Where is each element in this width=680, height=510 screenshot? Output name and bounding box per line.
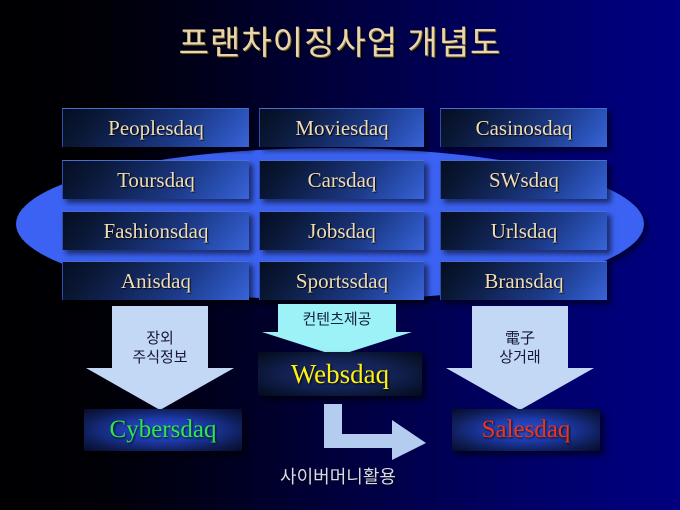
bottom-caption: 사이버머니활용 bbox=[218, 463, 458, 489]
elbow-arrow-icon bbox=[318, 404, 428, 460]
grid-cell-moviesdaq[interactable]: Moviesdaq bbox=[259, 108, 424, 147]
node-cybersdaq[interactable]: Cybersdaq bbox=[84, 409, 242, 451]
node-salesdaq[interactable]: Salesdaq bbox=[452, 409, 600, 451]
grid-cell-jobsdaq[interactable]: Jobsdaq bbox=[259, 211, 424, 250]
grid-cell-label: Peoplesdaq bbox=[108, 118, 204, 139]
grid-cell-label: Bransdaq bbox=[484, 271, 563, 292]
grid-cell-urlsdaq[interactable]: Urlsdaq bbox=[440, 211, 607, 250]
node-cybersdaq-label: Cybersdaq bbox=[110, 416, 217, 444]
node-websdaq-label: Websdaq bbox=[291, 359, 389, 390]
arrow-left[interactable]: 장외 주식정보 bbox=[86, 306, 234, 410]
grid-cell-label: Anisdaq bbox=[121, 271, 191, 292]
grid-cell-label: Toursdaq bbox=[117, 170, 195, 191]
grid-cell-sportssdaq[interactable]: Sportssdaq bbox=[259, 261, 424, 300]
down-arrow-icon bbox=[86, 306, 234, 410]
grid-cell-label: Carsdaq bbox=[308, 170, 377, 191]
grid-cell-label: Casinosdaq bbox=[476, 118, 573, 139]
slide-canvas: 프랜차이징사업 개념도 Peoplesdaq Moviesdaq Casinos… bbox=[0, 0, 680, 510]
down-arrow-icon bbox=[446, 306, 594, 410]
grid-cell-label: Fashionsdaq bbox=[104, 221, 209, 242]
arrow-center[interactable]: 컨텐츠제공 bbox=[262, 304, 412, 356]
grid-cell-peoplesdaq[interactable]: Peoplesdaq bbox=[62, 108, 249, 147]
grid-cell-label: Jobsdaq bbox=[308, 221, 376, 242]
grid-cell-label: Urlsdaq bbox=[491, 221, 558, 242]
grid-cell-bransdaq[interactable]: Bransdaq bbox=[440, 261, 607, 300]
grid-cell-label: Sportssdaq bbox=[296, 271, 388, 292]
grid-cell-anisdaq[interactable]: Anisdaq bbox=[62, 261, 249, 300]
grid-cell-casinosdaq[interactable]: Casinosdaq bbox=[440, 108, 607, 147]
grid-cell-fashionsdaq[interactable]: Fashionsdaq bbox=[62, 211, 249, 250]
node-websdaq[interactable]: Websdaq bbox=[258, 352, 422, 396]
arrow-right[interactable]: 電子 상거래 bbox=[446, 306, 594, 410]
grid-cell-label: SWsdaq bbox=[489, 170, 559, 191]
grid-cell-toursdaq[interactable]: Toursdaq bbox=[62, 160, 249, 199]
node-salesdaq-label: Salesdaq bbox=[482, 416, 571, 444]
grid-cell-label: Moviesdaq bbox=[295, 118, 388, 139]
grid-cell-swsdaq[interactable]: SWsdaq bbox=[440, 160, 607, 199]
down-arrow-icon bbox=[262, 304, 412, 356]
grid-cell-carsdaq[interactable]: Carsdaq bbox=[259, 160, 424, 199]
